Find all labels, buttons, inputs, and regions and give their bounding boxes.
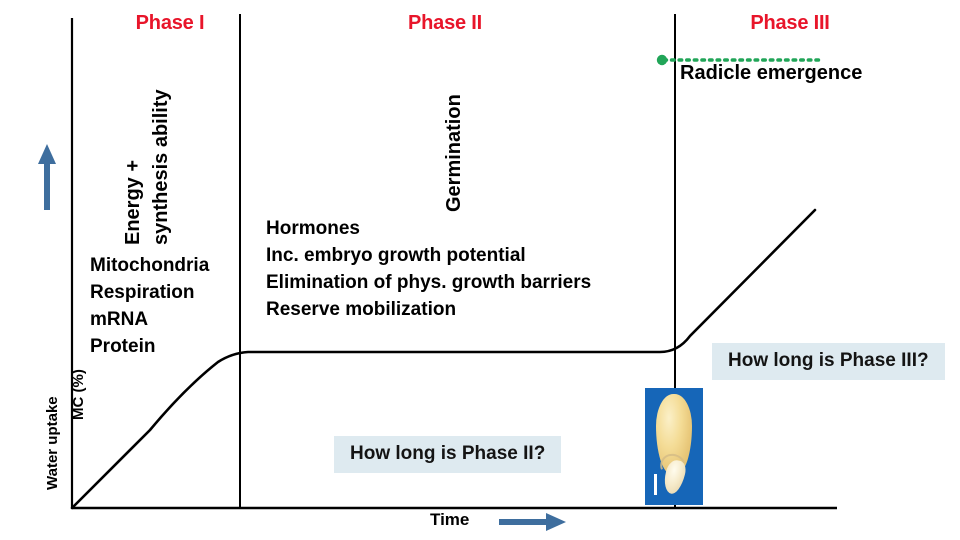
phase1-rotated-label-energy: Energy + — [122, 160, 145, 245]
phase2-item: Hormones — [266, 216, 591, 243]
radicle-emergence-dot — [657, 55, 667, 65]
phase2-rotated-label-germination: Germination — [443, 94, 466, 212]
phase1-item-list: Mitochondria Respiration mRNA Protein — [90, 253, 209, 361]
phase1-item: mRNA — [90, 307, 209, 334]
phase2-item: Elimination of phys. growth barriers — [266, 270, 591, 297]
x-axis-direction-arrow — [499, 513, 566, 531]
callout-how-long-phase-3: How long is Phase III? — [712, 343, 945, 380]
phase2-item: Reserve mobilization — [266, 297, 591, 324]
phase1-rotated-label-synthesis-ability: synthesis ability — [150, 89, 173, 245]
seed-scale-bar — [654, 474, 657, 495]
y-axis-direction-arrow — [38, 144, 56, 210]
phase1-item: Mitochondria — [90, 253, 209, 280]
germination-phases-figure: Phase I Phase II Phase III Water uptake … — [0, 0, 960, 540]
phase1-item: Respiration — [90, 280, 209, 307]
callout-how-long-phase-2: How long is Phase II? — [334, 436, 561, 473]
y-axis-label-water-uptake: Water uptake — [44, 396, 61, 490]
phase2-item: Inc. embryo growth potential — [266, 243, 591, 270]
phase-header-3: Phase III — [735, 12, 845, 35]
radicle-emergence-label: Radicle emergence — [680, 62, 862, 85]
phase-header-1: Phase I — [120, 12, 220, 35]
seed-photo-panel — [645, 388, 703, 505]
phase1-item: Protein — [90, 334, 209, 361]
phase-header-2: Phase II — [390, 12, 500, 35]
x-axis-label-time: Time — [430, 510, 469, 530]
y-axis-label-mc-percent: MC (%) — [70, 369, 87, 420]
phase2-item-list: Hormones Inc. embryo growth potential El… — [266, 216, 591, 324]
